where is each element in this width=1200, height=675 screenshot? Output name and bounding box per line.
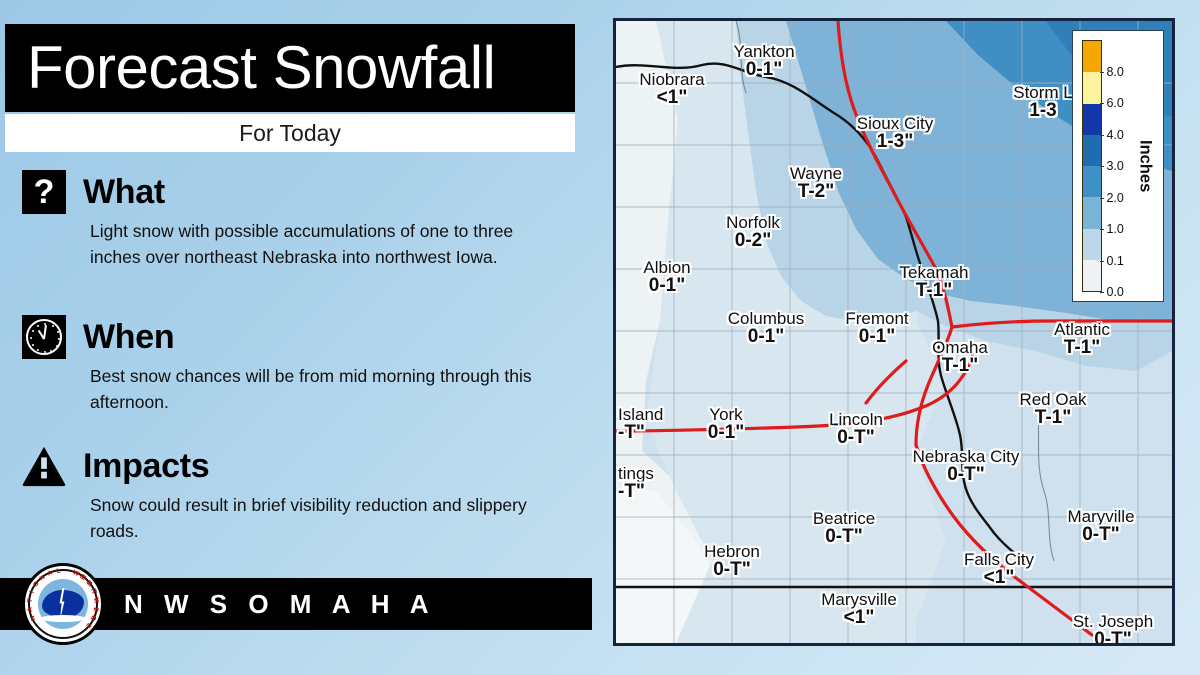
clock-face [26, 319, 62, 355]
legend-band [1083, 41, 1101, 72]
legend-tick: 0.1 [1106, 254, 1123, 268]
section-impacts-header: Impacts [22, 444, 567, 488]
legend-band [1083, 260, 1101, 291]
section-when-title: When [83, 320, 174, 354]
legend-band [1083, 229, 1101, 260]
nws-seal-logo: NATIONALWEATHERSERVICE [22, 563, 104, 645]
legend-tick: 0.0 [1106, 285, 1123, 299]
section-what-title: What [83, 175, 165, 209]
legend-color-bar [1082, 40, 1102, 292]
info-panel: Forecast Snowfall For Today ? What Light… [0, 0, 600, 675]
legend-band [1083, 135, 1101, 166]
question-mark-icon: ? [22, 170, 66, 214]
legend-tick: 1.0 [1106, 222, 1123, 236]
legend-tick: 4.0 [1106, 128, 1123, 142]
snowfall-legend: 8.06.04.03.02.01.00.10.0 Inches [1072, 30, 1164, 302]
legend-band [1083, 72, 1101, 103]
legend-unit-label: Inches [1134, 40, 1156, 292]
section-when: When Best snow chances will be from mid … [22, 315, 567, 416]
section-impacts: Impacts Snow could result in brief visib… [22, 444, 567, 545]
legend-tick: 6.0 [1106, 96, 1123, 110]
legend-band [1083, 104, 1101, 135]
section-when-body: Best snow chances will be from mid morni… [90, 364, 560, 416]
legend-tick-labels: 8.06.04.03.02.01.00.10.0 [1102, 40, 1133, 292]
subtitle-banner: For Today [5, 114, 575, 152]
legend-band [1083, 166, 1101, 197]
section-impacts-body: Snow could result in brief visibility re… [90, 493, 560, 545]
clock-icon [22, 315, 66, 359]
warning-triangle-icon [22, 444, 66, 488]
office-name: N W S O M A H A [124, 589, 436, 620]
legend-tick: 2.0 [1106, 191, 1123, 205]
section-what: ? What Light snow with possible accumula… [22, 170, 567, 271]
legend-tick: 8.0 [1106, 65, 1123, 79]
legend-tick: 3.0 [1106, 159, 1123, 173]
section-impacts-title: Impacts [83, 449, 209, 483]
section-what-body: Light snow with possible accumulations o… [90, 219, 560, 271]
legend-band [1083, 197, 1101, 228]
title-banner: Forecast Snowfall [5, 24, 575, 112]
forecast-snowfall-map[interactable]: Yankton0-1"Niobrara<1"Sioux City1-3"Stor… [613, 18, 1175, 646]
page-subtitle: For Today [239, 120, 341, 147]
seal-lettering: NATIONALWEATHERSERVICE [25, 566, 101, 642]
page-title: Forecast Snowfall [27, 38, 495, 98]
section-when-header: When [22, 315, 567, 359]
section-what-header: ? What [22, 170, 567, 214]
